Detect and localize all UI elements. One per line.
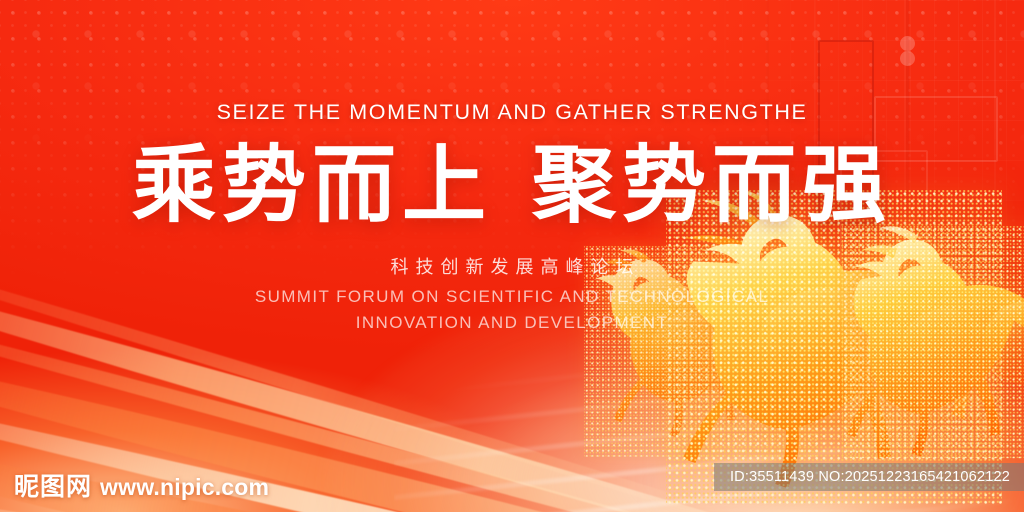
subtitle-chinese: 科技创新发展高峰论坛 xyxy=(0,253,1024,279)
watermark-site-url: www.nipic.com xyxy=(100,476,269,500)
eyebrow-text: SEIZE THE MOMENTUM AND GATHER STRENGTHE xyxy=(0,100,1024,125)
galloping-horses-group xyxy=(584,190,1024,490)
subtitle-english-line-2: INNOVATION AND DEVELOPMENT xyxy=(0,310,1024,336)
page-title: 乘势而上聚势而强 xyxy=(0,139,1024,231)
circuit-dots-icon xyxy=(900,36,946,52)
headline-part-2: 聚势而强 xyxy=(532,139,892,231)
headline-part-1: 乘势而上 xyxy=(132,138,492,232)
subtitle-english-line-1: SUMMIT FORUM ON SCIENTIFIC AND TECHNOLOG… xyxy=(0,284,1024,310)
subtitle-english: SUMMIT FORUM ON SCIENTIFIC AND TECHNOLOG… xyxy=(0,284,1024,336)
poster-canvas: SEIZE THE MOMENTUM AND GATHER STRENGTHE … xyxy=(0,0,1024,512)
watermark: 昵图网 www.nipic.com xyxy=(14,475,269,500)
status-badge: ID:35511439 NO:20251223165421062122 xyxy=(714,463,1024,491)
watermark-site-name: 昵图网 xyxy=(14,475,92,500)
